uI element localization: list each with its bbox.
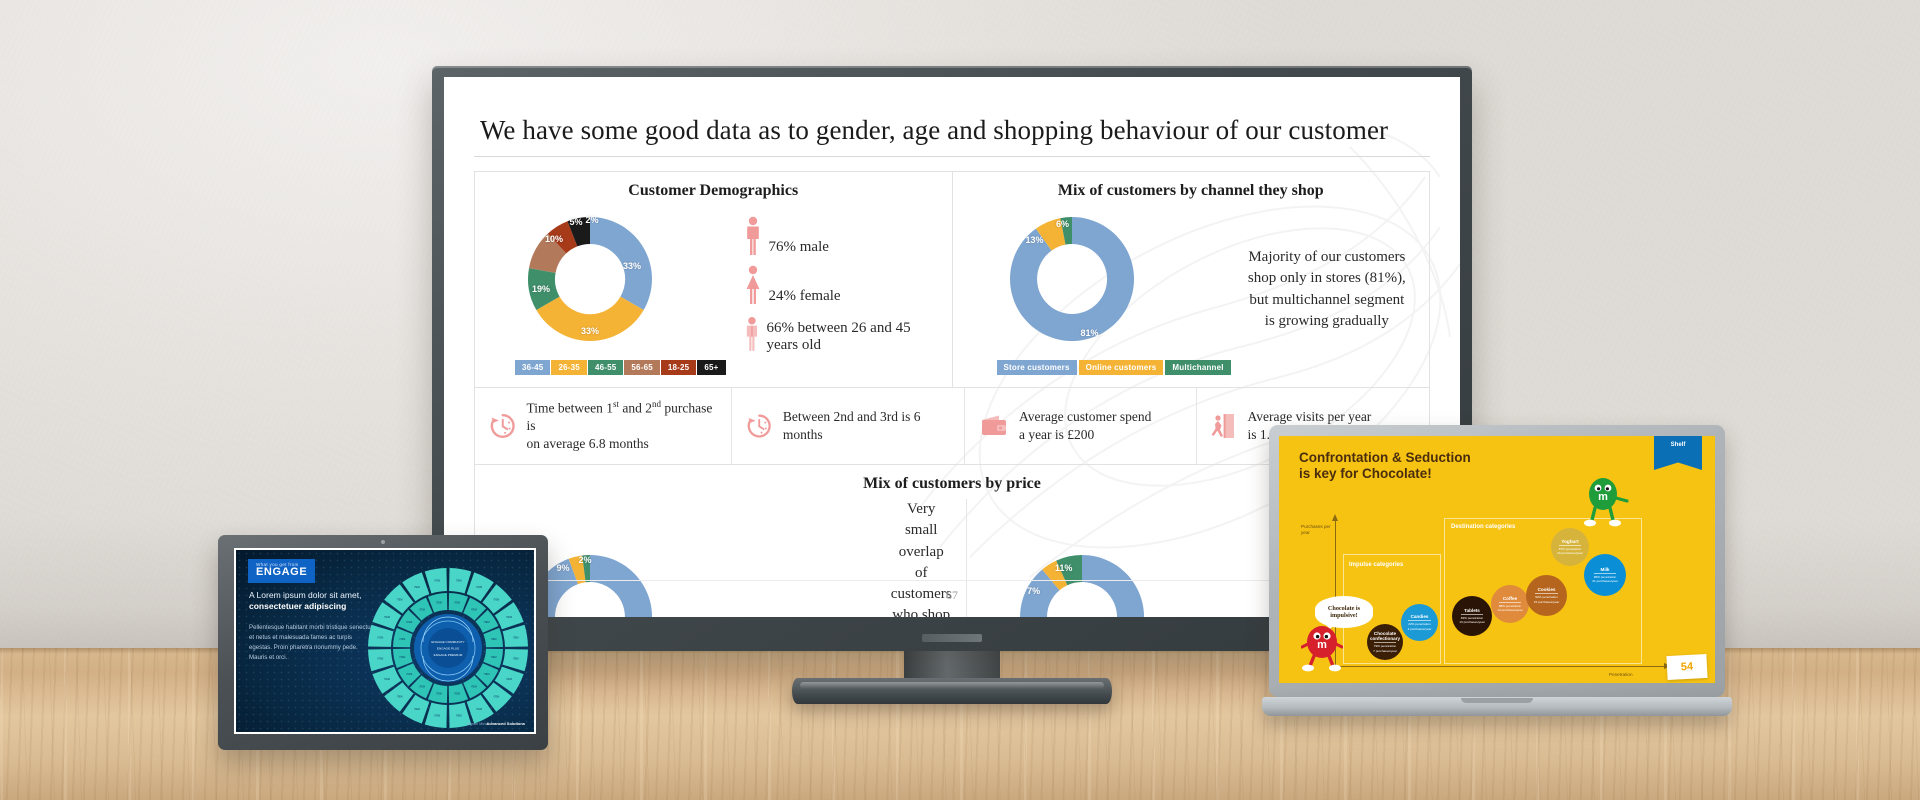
laptop-trackpad-notch [1461,698,1533,703]
customer-demographics-donut[interactable]: 33% 33% 19% 10% 5% 2% 36-45 [515,204,726,375]
legend-item-store-customers[interactable]: Store customers [997,360,1077,375]
tablet-camera [381,540,385,544]
tablet-body: What you get from ENGAGE A Lorem ipsum d… [218,535,548,750]
donut-value-18-25: 5% [569,217,582,227]
svg-text:ITEM: ITEM [419,686,425,689]
bubble-coffee-name: Coffee [1503,596,1517,601]
svg-text:ENGAGE PREMIUM: ENGAGE PREMIUM [434,653,463,657]
svg-text:ITEM: ITEM [400,638,406,641]
svg-text:m: m [1598,491,1608,503]
destination-categories-label: Destination categories [1451,524,1515,530]
male-figure-icon [744,216,762,256]
bubble-coffee-stat2: 14 purchases/year [1497,608,1522,612]
impulse-categories-label: Impulse categories [1349,562,1403,568]
svg-text:ITEM: ITEM [419,608,425,611]
bubble-chocolate-confectionary-stat2: 7 purchases/year [1373,649,1397,653]
kpi-time-1st-2nd-label: Time between 1st and 2nd purchase ison a… [527,399,722,453]
laptop-base [1262,697,1732,716]
svg-text:ITEM: ITEM [384,678,390,681]
donut-value-online: 13% [1025,235,1043,245]
red-mm-character-icon: m [1301,622,1343,674]
engage-heading-line2: consectetuer adipiscing [249,601,346,611]
page-number-box: 54 [1666,654,1707,680]
bubble-yoghurt-name: Yoghurt [1561,539,1578,544]
kpi-average-spend-label: Average customer spenda year is £200 [1019,408,1151,444]
svg-text:ITEM: ITEM [377,636,383,639]
donut-value-26-35: 33% [581,326,599,336]
bubble-candies-name: Candies [1411,614,1429,619]
svg-text:ITEM: ITEM [494,599,500,602]
svg-text:ITEM: ITEM [476,708,482,711]
svg-text:ITEM: ITEM [513,658,519,661]
bubble-cookies[interactable]: Cookies 92% penetration 15 purchases/yea… [1526,575,1567,616]
svg-text:ITEM: ITEM [406,621,412,624]
svg-text:ITEM: ITEM [491,656,497,659]
tablet-device: What you get from ENGAGE A Lorem ipsum d… [218,535,548,750]
bubble-yoghurt[interactable]: Yoghurt 87% penetration 20 purchases/yea… [1551,528,1589,566]
engage-badge: What you get from ENGAGE [248,559,315,583]
bubble-cookies-stat2: 15 purchases/year [1534,600,1559,604]
donut-value-store: 81% [1080,328,1098,338]
bubble-coffee[interactable]: Coffee 88% penetration 14 purchases/year [1491,585,1529,623]
legend-item-36-45[interactable]: 36-45 [515,360,550,375]
svg-text:m: m [1317,639,1327,651]
donut-value-shop-both-sale: 11% [1055,563,1073,573]
engage-slide: What you get from ENGAGE A Lorem ipsum d… [236,550,534,732]
kpi-time-2nd-3rd: Between 2nd and 3rd is 6 months [731,388,964,464]
donut-value-36-45: 33% [623,261,641,271]
channel-mix-donut[interactable]: 81% 13% 6% Store customers Online custom… [997,204,1231,375]
svg-text:ITEM: ITEM [414,586,420,589]
bubble-milk-name: Milk [1601,567,1610,572]
engage-heading-line1: A Lorem ipsum dolor sit amet, [249,590,361,600]
clock-arrow-icon [489,412,517,440]
x-axis [1335,666,1665,667]
svg-text:ENGAGE PLUS: ENGAGE PLUS [437,647,459,651]
svg-text:ITEM: ITEM [397,599,403,602]
stat-age-label: 66% between 26 and 45 years old [766,320,945,354]
laptop-device: Shelf Confrontation & Seduction is key f… [1262,425,1732,743]
legend-item-56-65[interactable]: 56-65 [624,360,659,375]
shelf-ribbon-badge: Shelf [1654,436,1702,470]
x-axis-label: Penetration [1609,672,1633,678]
clock-arrow-icon [746,412,773,440]
green-mm-character-icon: m [1581,474,1629,532]
monitor-brand-logo [922,634,982,642]
top-panels: Customer Demographics [474,171,1430,388]
kpi-time-1st-2nd: Time between 1st and 2nd purchase ison a… [475,388,731,464]
kpi-average-spend: Average customer spenda year is £200 [964,388,1197,464]
page-title: We have some good data as to gender, age… [480,115,1430,146]
female-figure-icon [744,265,762,305]
engage-badge-title: ENGAGE [256,567,307,579]
donut-value-56-65: 10% [545,234,563,244]
panel-customer-demographics: Customer Demographics [475,172,952,387]
y-axis-label: Purchases per year [1301,524,1331,535]
title-divider [474,156,1430,157]
svg-text:ENGAGE COMMUNITY: ENGAGE COMMUNITY [431,640,464,644]
wallet-icon [979,413,1009,439]
monitor-stand-base [792,678,1112,704]
svg-text:ITEM: ITEM [400,656,406,659]
svg-text:ITEM: ITEM [377,658,383,661]
laptop-screen[interactable]: Shelf Confrontation & Seduction is key f… [1279,436,1715,683]
chocolate-slide: Shelf Confrontation & Seduction is key f… [1279,436,1715,683]
svg-text:ITEM: ITEM [397,695,403,698]
bubble-cookies-name: Cookies [1538,587,1556,592]
panel-title-demographics: Customer Demographics [481,182,946,200]
gender-stats-list: 76% male [726,216,946,363]
panel-channel-mix: Mix of customers by channel they shop [952,172,1430,387]
svg-text:ITEM: ITEM [436,693,442,696]
door-exit-icon [1211,412,1237,440]
svg-text:ITEM: ITEM [494,695,500,698]
bubble-chocolate-confectionary[interactable]: Chocolate confectionary 79% penetration … [1367,624,1403,660]
svg-text:ITEM: ITEM [471,608,477,611]
chocolate-title-line2: is key for Chocolate! [1299,466,1432,481]
channel-note: Majority of our customers shop only in s… [1231,247,1423,332]
chocolate-slide-title: Confrontation & Seduction is key for Cho… [1299,450,1471,482]
svg-text:ITEM: ITEM [506,616,512,619]
legend-item-multichannel[interactable]: Multichannel [1165,360,1230,375]
donut-value-46-55: 19% [532,284,550,294]
stat-male-label: 76% male [769,239,829,256]
legend-item-65plus[interactable]: 65+ [697,360,725,375]
desk-scene: We have some good data as to gender, age… [0,0,1920,800]
svg-text:ITEM: ITEM [484,673,490,676]
svg-text:ITEM: ITEM [513,636,519,639]
stat-female-label: 24% female [769,288,841,305]
legend-channel: Store customers Online customers Multich… [997,360,1231,375]
legend-item-46-55[interactable]: 46-55 [588,360,623,375]
bubble-tablets[interactable]: Tablets 84% penetration 13 purchases/yea… [1452,596,1492,636]
bubble-tablets-name: Tablets [1464,608,1480,613]
page-number: 54 [1666,654,1707,680]
svg-text:ITEM: ITEM [471,686,477,689]
engage-credit: Ingram Micro [467,722,488,726]
svg-text:ITEM: ITEM [454,693,460,696]
kpi-time-2nd-3rd-label: Between 2nd and 3rd is 6 months [783,408,954,444]
bubble-yoghurt-stat2: 20 purchases/year [1557,551,1582,555]
stat-age: 66% between 26 and 45 years old [744,314,946,354]
svg-text:ITEM: ITEM [484,621,490,624]
donut-value-65plus: 2% [585,215,598,225]
panel-title-channel: Mix of customers by channel they shop [959,182,1424,200]
engage-radial-diagram[interactable]: ITEMITEMITEMITEMITEMITEMITEMITEMITEMITEM… [364,564,532,732]
svg-text:ITEM: ITEM [414,708,420,711]
legend-demographics: 36-45 26-35 46-55 56-65 18-25 65+ [515,360,726,375]
legend-item-online-customers[interactable]: Online customers [1079,360,1164,375]
svg-text:ITEM: ITEM [476,586,482,589]
chocolate-title-line1: Confrontation & Seduction [1299,450,1471,465]
person-figure-icon [744,314,760,354]
stat-male: 76% male [744,216,946,256]
svg-text:ITEM: ITEM [454,601,460,604]
legend-item-18-25[interactable]: 18-25 [661,360,696,375]
svg-text:ITEM: ITEM [436,601,442,604]
svg-text:ITEM: ITEM [456,715,462,718]
tablet-screen[interactable]: What you get from ENGAGE A Lorem ipsum d… [234,548,536,734]
engage-body-text: Pellentesque habitant morbi tristique se… [249,623,375,662]
svg-text:ITEM: ITEM [434,715,440,718]
engage-logo: Advanced Solutions [487,721,525,726]
bubble-tablets-stat2: 13 purchases/year [1459,620,1484,624]
svg-text:ITEM: ITEM [456,579,462,582]
bubble-candies[interactable]: Candies 22% penetration 4 purchases/year [1401,604,1438,641]
svg-text:ITEM: ITEM [384,616,390,619]
svg-text:ITEM: ITEM [491,638,497,641]
donut-value-outlets: 9% [556,563,569,573]
laptop-lid: Shelf Confrontation & Seduction is key f… [1269,425,1725,697]
svg-text:ITEM: ITEM [406,673,412,676]
legend-item-26-35[interactable]: 26-35 [551,360,586,375]
donut-value-multich: 6% [1056,219,1069,229]
bubble-chocolate-confectionary-name: Chocolate confectionary [1367,631,1403,641]
bubble-milk-stat2: 21 purchases/year [1592,579,1617,583]
bubble-candies-stat2: 4 purchases/year [1408,627,1432,631]
svg-text:ITEM: ITEM [434,579,440,582]
stat-female: 24% female [744,265,946,305]
svg-text:ITEM: ITEM [506,678,512,681]
bubble-milk[interactable]: Milk 96% penetration 21 purchases/year [1584,554,1626,596]
donut-value-both: 2% [578,555,591,565]
